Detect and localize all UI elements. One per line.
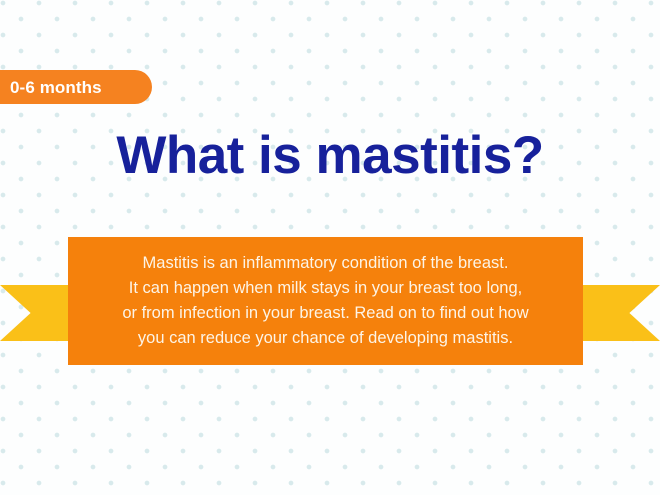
infographic-card: 0-6 months What is mastitis? Mastitis is… — [0, 0, 660, 495]
message-line: or from infection in your breast. Read o… — [122, 301, 528, 326]
message-line: you can reduce your chance of developing… — [138, 326, 513, 351]
age-range-badge: 0-6 months — [0, 70, 152, 104]
age-range-badge-label: 0-6 months — [0, 79, 102, 96]
page-title: What is mastitis? — [0, 128, 660, 184]
message-line: It can happen when milk stays in your br… — [129, 276, 522, 301]
message-panel: Mastitis is an inflammatory condition of… — [68, 237, 583, 365]
message-line: Mastitis is an inflammatory condition of… — [143, 251, 509, 276]
